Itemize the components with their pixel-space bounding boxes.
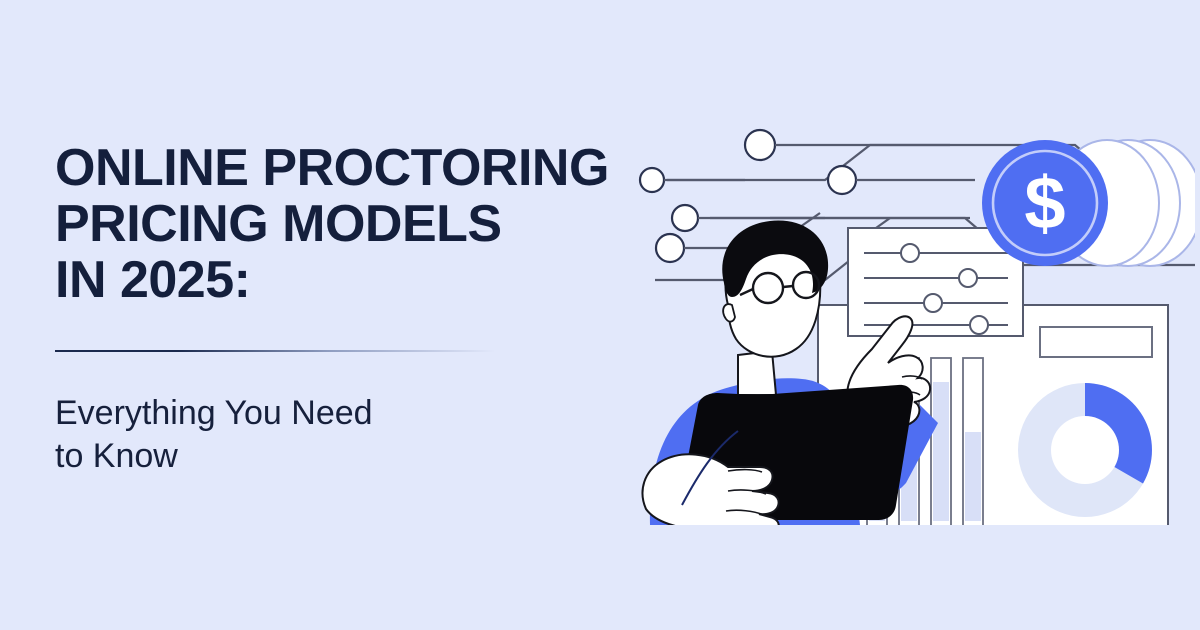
- text-column: ONLINE PROCTORING PRICING MODELS IN 2025…: [55, 140, 635, 477]
- donut-chart: [1018, 383, 1152, 517]
- banner-root: ONLINE PROCTORING PRICING MODELS IN 2025…: [0, 0, 1200, 630]
- bar-3: [931, 358, 951, 525]
- circuit-node-5: [828, 166, 856, 194]
- coin-stack: $: [982, 140, 1195, 266]
- bar-4: [963, 358, 983, 525]
- slider-knob-1[interactable]: [901, 244, 919, 262]
- hero-illustration: $: [620, 105, 1195, 525]
- circuit-node-1: [640, 168, 664, 192]
- search-input[interactable]: [1040, 327, 1152, 357]
- slider-knob-4[interactable]: [970, 316, 988, 334]
- page-subtitle: Everything You Need to Know: [55, 392, 635, 476]
- title-divider: [55, 350, 495, 352]
- slider-knob-3[interactable]: [924, 294, 942, 312]
- page-title: ONLINE PROCTORING PRICING MODELS IN 2025…: [55, 140, 635, 308]
- dollar-sign-icon: $: [1024, 162, 1065, 245]
- circuit-node-4: [656, 234, 684, 262]
- slider-card: [848, 228, 1023, 336]
- circuit-node-2: [745, 130, 775, 160]
- circuit-node-3: [672, 205, 698, 231]
- person-ear: [723, 304, 735, 322]
- slider-knob-2[interactable]: [959, 269, 977, 287]
